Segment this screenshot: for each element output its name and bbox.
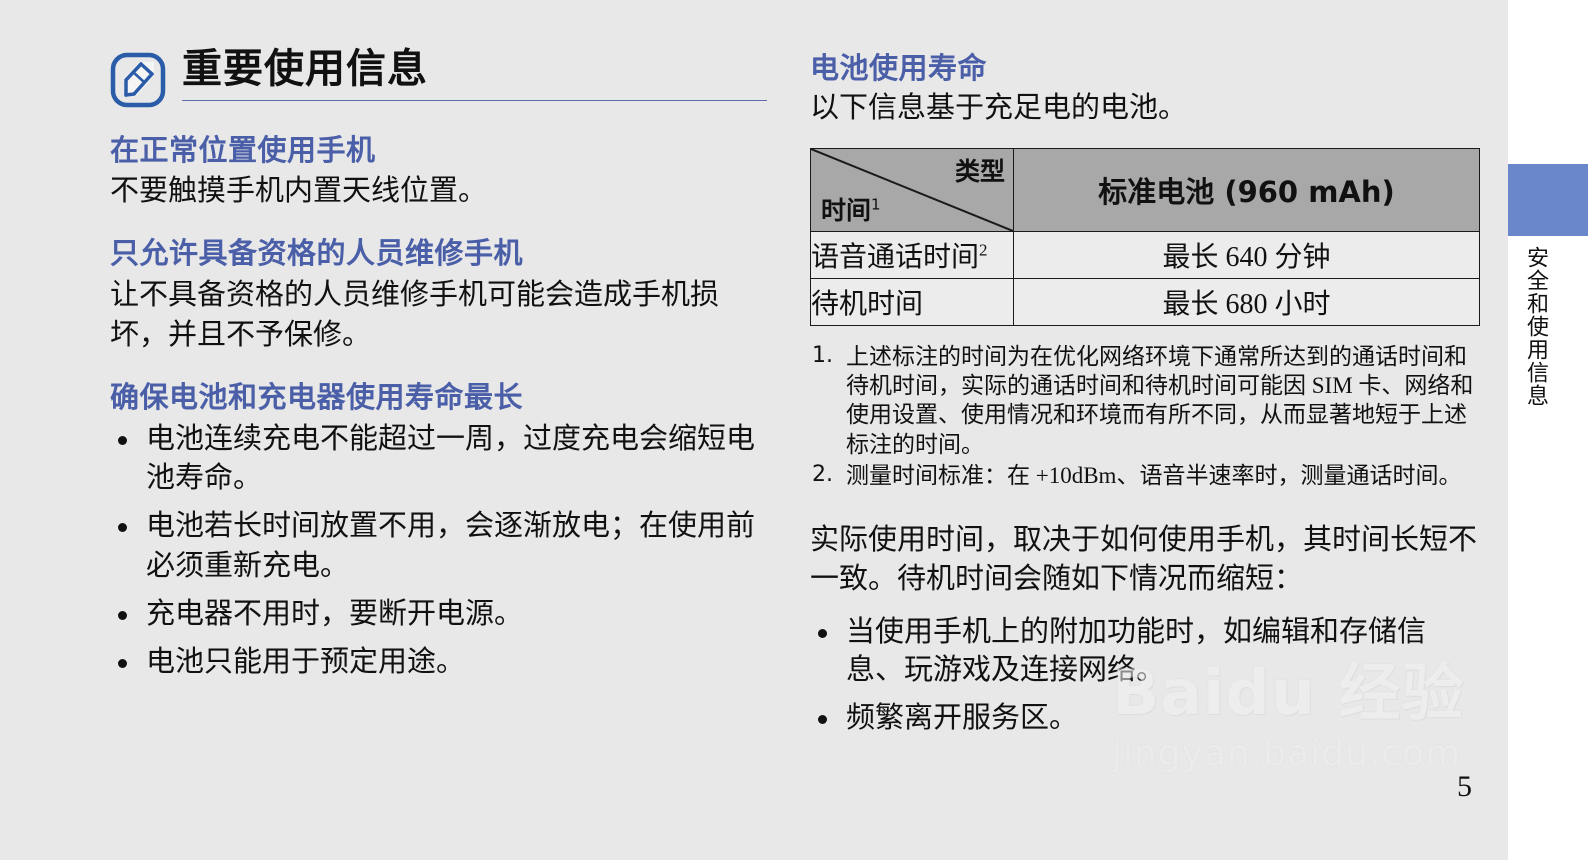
- section-paragraph-qualified-service: 让不具备资格的人员维修手机可能会造成手机损坏，并且不予保修。: [110, 275, 770, 355]
- side-running-head: 安全和使用信息: [1508, 246, 1548, 407]
- list-item: 频繁离开服务区。: [810, 699, 1482, 737]
- right-column: 电池使用寿命 以下信息基于充足电的电池。 类型 时间1 标准电池 (960 mA…: [810, 52, 1482, 747]
- footnote-item: 上述标注的时间为在优化网络环境下通常所达到的通话时间和待机时间，实际的通话时间和…: [810, 342, 1482, 460]
- usage-time-paragraph: 实际使用时间，取决于如何使用手机，其时间长短不一致。待机时间会随如下情况而缩短：: [810, 521, 1482, 599]
- section-heading-qualified-service: 只允许具备资格的人员维修手机: [110, 237, 770, 270]
- table-corner-cell: 类型 时间1: [811, 148, 1014, 231]
- section-paragraph-normal-position: 不要触摸手机内置天线位置。: [110, 171, 770, 211]
- title-underline-rule: [182, 100, 767, 101]
- battery-care-bullet-list: 电池连续充电不能超过一周，过度充电会缩短电池寿命。 电池若长时间放置不用，会逐渐…: [110, 420, 770, 682]
- page-title-row: 重要使用信息: [110, 48, 770, 108]
- table-row-label-standby-time: 待机时间: [811, 278, 1014, 325]
- battery-life-table: 类型 时间1 标准电池 (960 mAh) 语音通话时间2 最长 640 分钟 …: [810, 148, 1480, 326]
- section-heading-battery-charger-life: 确保电池和充电器使用寿命最长: [110, 381, 770, 414]
- list-item: 充电器不用时，要断开电源。: [110, 595, 770, 634]
- list-item: 电池只能用于预定用途。: [110, 643, 770, 682]
- table-corner-type-label: 类型: [955, 152, 1005, 188]
- list-item: 电池若长时间放置不用，会逐渐放电；在使用前必须重新充电。: [110, 507, 770, 585]
- page-title: 重要使用信息: [182, 48, 770, 90]
- left-column: 重要使用信息 在正常位置使用手机 不要触摸手机内置天线位置。 只允许具备资格的人…: [110, 48, 770, 691]
- battery-life-intro: 以下信息基于充足电的电池。: [810, 89, 1482, 127]
- right-margin-strip: [1508, 0, 1588, 860]
- table-row-label-talk-time: 语音通话时间2: [811, 231, 1014, 278]
- table-column-header-standard-battery: 标准电池 (960 mAh): [1014, 148, 1480, 231]
- list-item: 当使用手机上的附加功能时，如编辑和存储信息、玩游戏及连接网络。: [810, 613, 1482, 690]
- note-pen-icon: [110, 52, 166, 108]
- section-heading-normal-position: 在正常位置使用手机: [110, 134, 770, 167]
- list-item: 电池连续充电不能超过一周，过度充电会缩短电池寿命。: [110, 420, 770, 498]
- table-row-value-talk-time: 最长 640 分钟: [1014, 231, 1480, 278]
- table-header-row: 类型 时间1 标准电池 (960 mAh): [811, 148, 1480, 231]
- page-title-block: 重要使用信息: [182, 48, 770, 101]
- table-row: 语音通话时间2 最长 640 分钟: [811, 231, 1480, 278]
- section-tab-marker: [1508, 164, 1588, 236]
- table-row: 待机时间 最长 680 小时: [811, 278, 1480, 325]
- footnote-item: 测量时间标准：在 +10dBm、语音半速率时，测量通话时间。: [810, 461, 1482, 490]
- table-row-value-standby-time: 最长 680 小时: [1014, 278, 1480, 325]
- page-number: 5: [1432, 770, 1472, 804]
- section-heading-battery-life: 电池使用寿命: [810, 52, 1482, 85]
- standby-reduction-bullet-list: 当使用手机上的附加功能时，如编辑和存储信息、玩游戏及连接网络。 频繁离开服务区。: [810, 613, 1482, 738]
- table-corner-time-label: 时间1: [821, 191, 881, 227]
- document-page: 安全和使用信息 重要使用信息 在正常位置使用手机 不要: [0, 0, 1588, 860]
- table-footnotes: 上述标注的时间为在优化网络环境下通常所达到的通话时间和待机时间，实际的通话时间和…: [810, 342, 1482, 491]
